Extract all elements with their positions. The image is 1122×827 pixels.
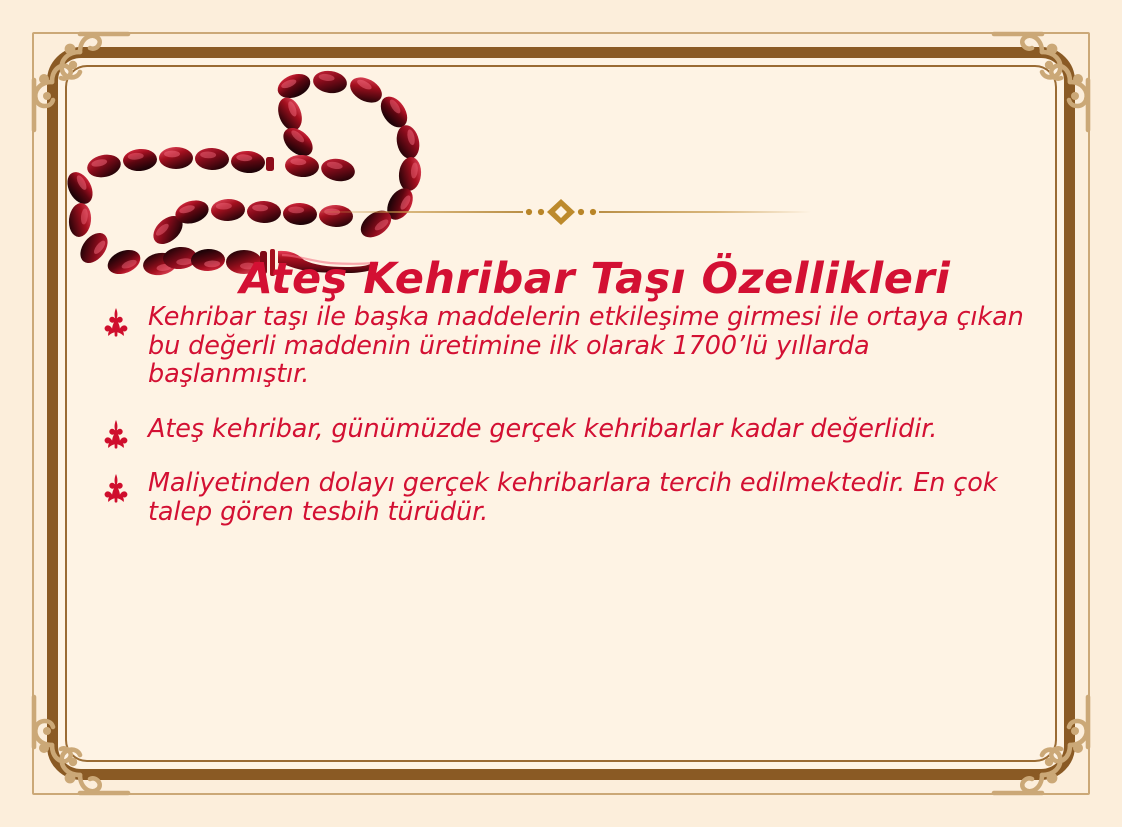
list-item-text: Maliyetinden dolayı gerçek kehribarlara … bbox=[148, 469, 1033, 526]
corner-flourish-icon-bottom-left bbox=[8, 691, 136, 819]
poster-card: Ateş Kehribar Taşı Özellikleri Kehribar … bbox=[0, 0, 1122, 827]
divider-ornament bbox=[311, 196, 811, 228]
corner-flourish-icon-bottom-right bbox=[986, 691, 1114, 819]
list-item: Ateş kehribar, günümüzde gerçek kehribar… bbox=[103, 415, 1033, 444]
fleur-de-lis-icon bbox=[103, 419, 129, 449]
fleur-de-lis-icon bbox=[103, 307, 129, 337]
list-item-text: Kehribar taşı ile başka maddelerin etkil… bbox=[148, 303, 1033, 389]
features-list: Kehribar taşı ile başka maddelerin etkil… bbox=[103, 303, 1033, 552]
list-item-text: Ateş kehribar, günümüzde gerçek kehribar… bbox=[148, 415, 1033, 444]
corner-flourish-icon-top-right bbox=[986, 8, 1114, 136]
page-title: Ateş Kehribar Taşı Özellikleri bbox=[0, 254, 1122, 304]
list-item: Kehribar taşı ile başka maddelerin etkil… bbox=[103, 303, 1033, 389]
fleur-de-lis-icon bbox=[103, 473, 129, 503]
list-item: Maliyetinden dolayı gerçek kehribarlara … bbox=[103, 469, 1033, 526]
